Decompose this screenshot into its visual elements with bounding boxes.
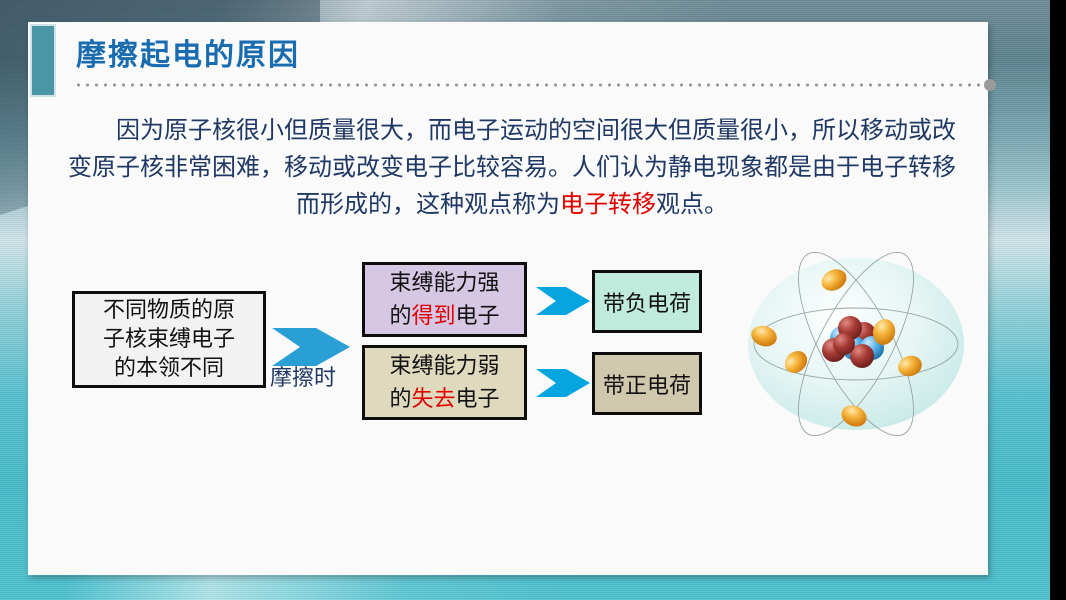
- cause-weak-line2: 的失去电子: [389, 383, 499, 416]
- title-accent-bar: [30, 24, 56, 97]
- result-arrow-positive-icon: [536, 367, 590, 399]
- cause-box-weak: 束缚能力弱 的失去电子: [362, 345, 527, 420]
- cause-box-weak-text: 束缚能力弱 的失去电子: [389, 350, 499, 416]
- friction-label: 摩擦时: [270, 360, 336, 392]
- cause-weak-line1: 束缚能力弱: [389, 350, 499, 383]
- right-edge-strip: [1050, 0, 1066, 600]
- cause-box-strong: 束缚能力强 的得到电子: [362, 262, 527, 337]
- cause-strong-prefix: 的: [389, 304, 411, 329]
- result-box-negative: 带负电荷: [592, 270, 702, 333]
- result-box-positive: 带正电荷: [592, 352, 702, 415]
- page-title: 摩擦起电的原因: [76, 30, 300, 74]
- title-divider-dotted-line: [74, 83, 982, 87]
- result-positive-label: 带正电荷: [603, 368, 691, 400]
- cause-strong-highlight: 得到: [411, 304, 455, 329]
- cause-box-strong-text: 束缚能力强 的得到电子: [389, 267, 499, 333]
- body-paragraph: 因为原子核很小但质量很大，而电子运动的空间很大但质量很小，所以移动或改变原子核非…: [68, 112, 956, 223]
- title-divider-end-dot: [984, 79, 996, 91]
- paragraph-text-part1: 因为原子核很小但质量很大，而电子运动的空间很大但质量很小，所以移动或改变原子核非…: [68, 116, 956, 218]
- cause-strong-suffix: 电子: [456, 304, 500, 329]
- source-box: 不同物质的原 子核束缚电子 的本领不同: [72, 291, 266, 388]
- source-box-text: 不同物质的原 子核束缚电子 的本领不同: [103, 296, 235, 383]
- cause-strong-line1: 束缚能力强: [389, 267, 499, 300]
- slide-canvas: 摩擦起电的原因 因为原子核很小但质量很大，而电子运动的空间很大但质量很小，所以移…: [0, 0, 1066, 600]
- paragraph-highlight: 电子转移: [560, 190, 656, 218]
- source-box-line1: 不同物质的原: [103, 296, 235, 325]
- cause-weak-prefix: 的: [389, 387, 411, 412]
- cause-weak-highlight: 失去: [411, 387, 455, 412]
- result-arrow-negative-icon: [536, 285, 590, 317]
- paragraph-text-part2: 观点。: [656, 190, 728, 218]
- cause-strong-line2: 的得到电子: [389, 300, 499, 333]
- source-box-line2: 子核束缚电子: [103, 325, 235, 354]
- source-box-line3: 的本领不同: [103, 354, 235, 383]
- result-negative-label: 带负电荷: [603, 286, 691, 318]
- cause-weak-suffix: 电子: [456, 387, 500, 412]
- atom-illustration: [738, 252, 978, 437]
